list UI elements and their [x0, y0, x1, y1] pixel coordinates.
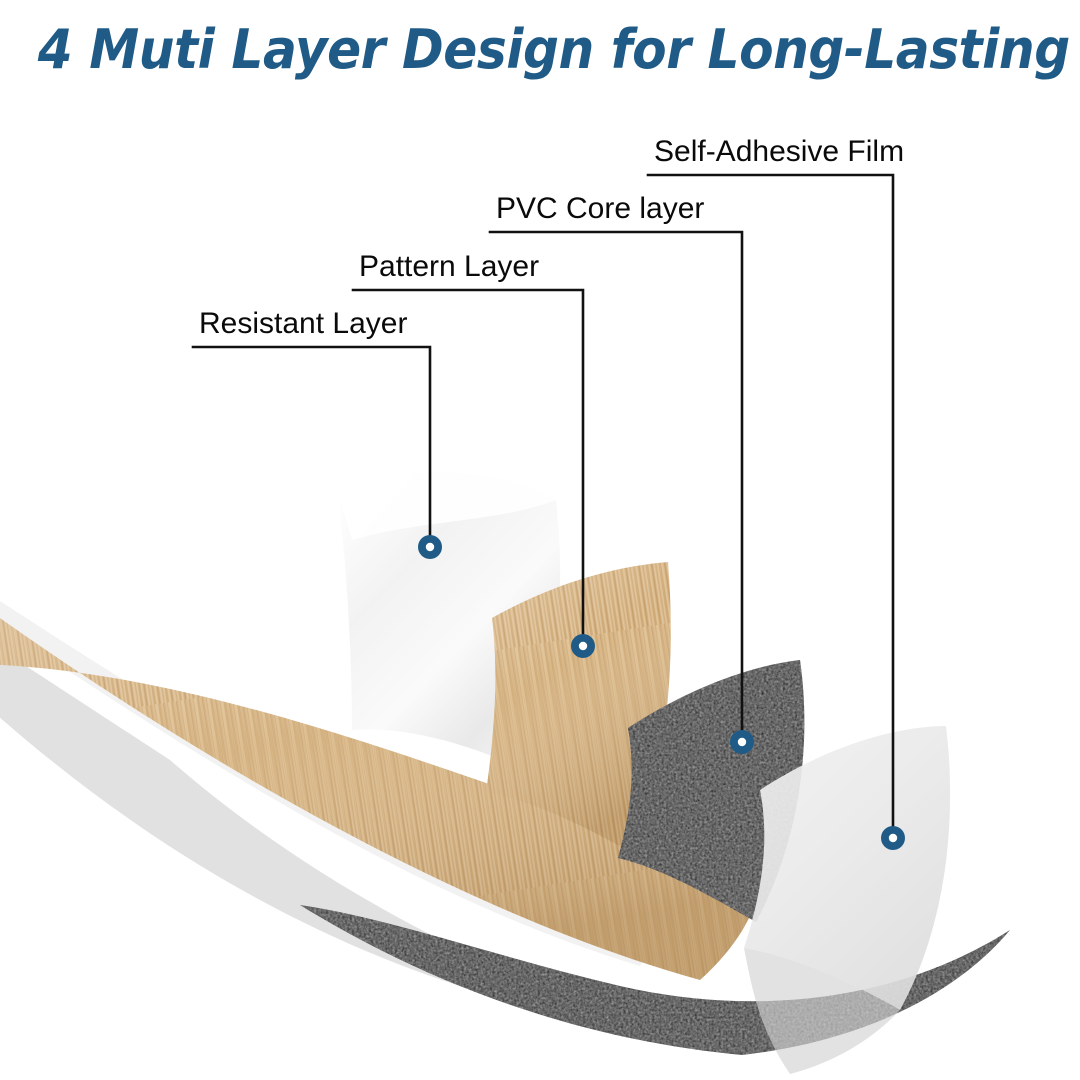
infographic-root: 4 Muti Layer Design for Long-Lasting — [0, 0, 1080, 1080]
callout-label-pattern-layer: Pattern Layer — [359, 252, 539, 282]
layer-artwork — [0, 0, 1080, 1080]
callout-label-self-adhesive-film: Self-Adhesive Film — [654, 137, 904, 167]
callout-label-resistant-layer: Resistant Layer — [199, 309, 407, 339]
callout-label-pvc-core-layer: PVC Core layer — [496, 194, 704, 224]
